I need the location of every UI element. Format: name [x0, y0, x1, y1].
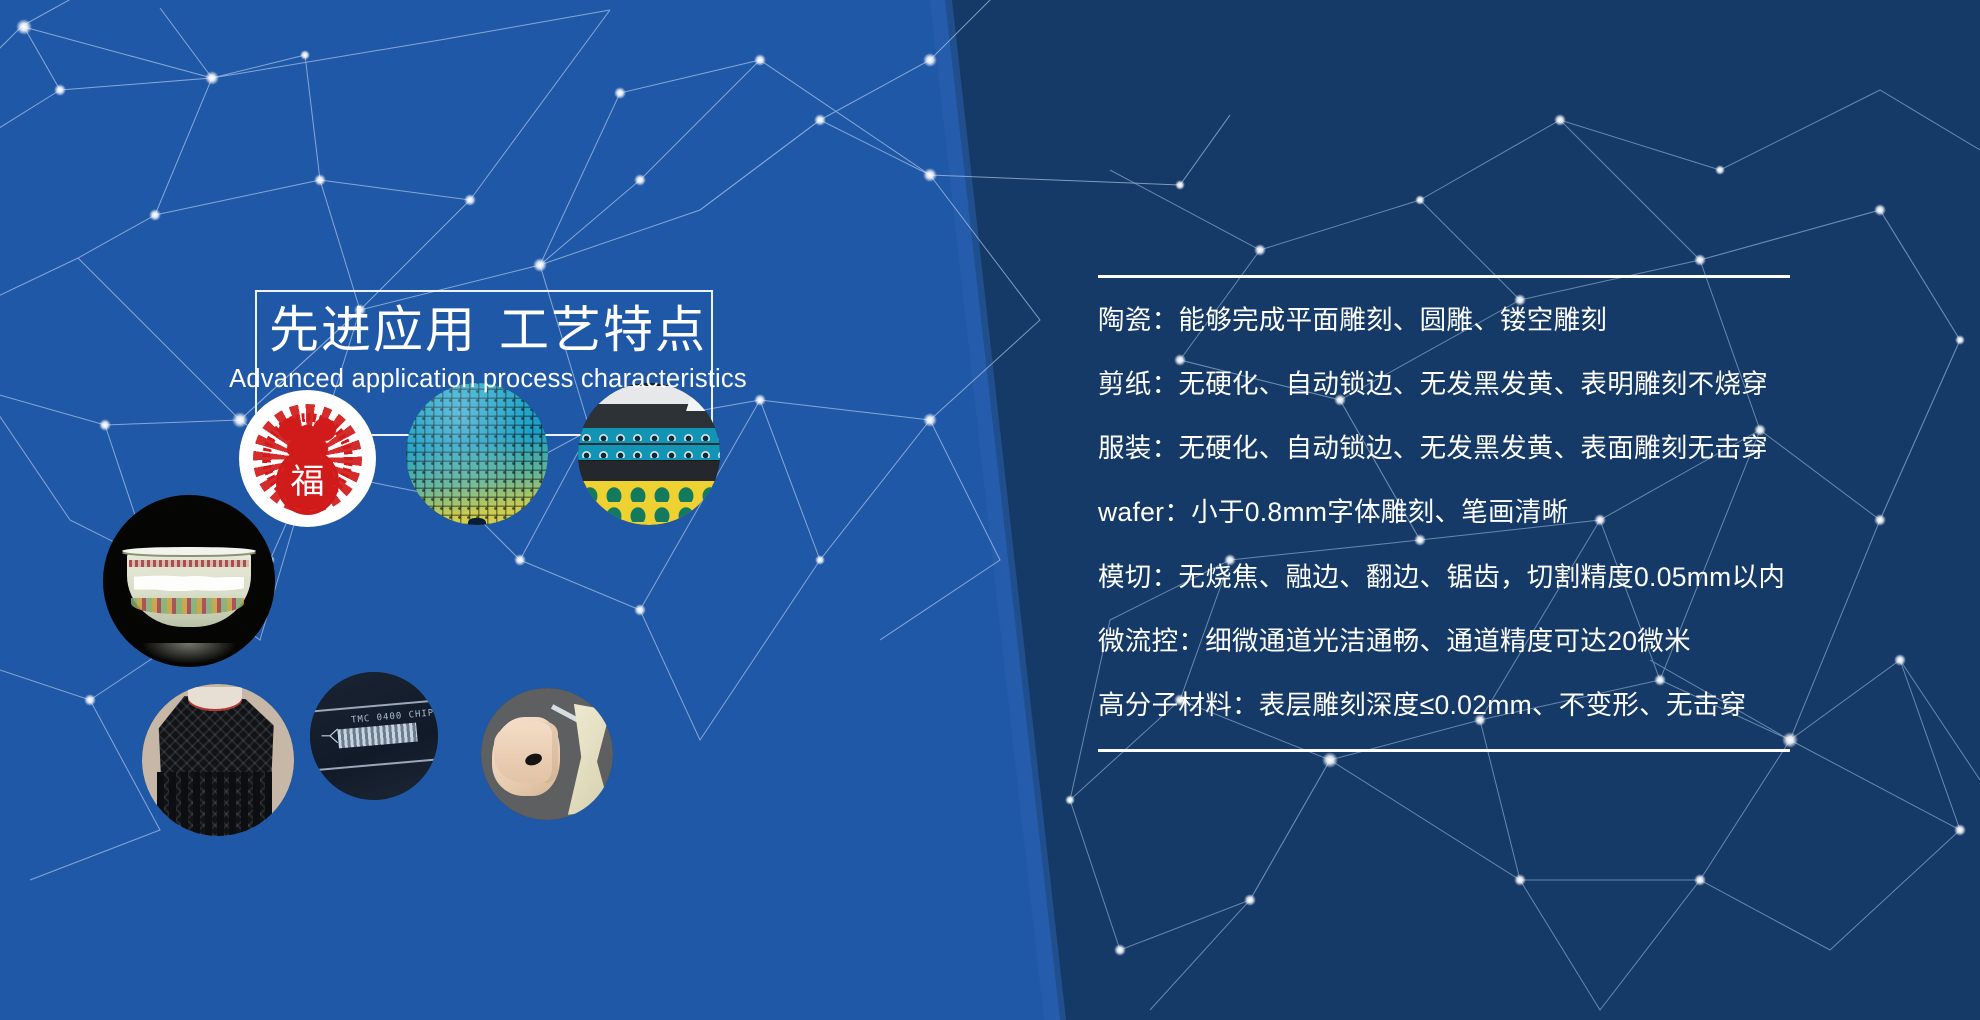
wafer-flat-notch [468, 518, 485, 525]
specs-panel: 陶瓷：能够完成平面雕刻、圆雕、镂空雕刻 剪纸：无硬化、自动锁边、无发黑发黄、表明… [1098, 275, 1798, 752]
gallery-item-red-papercut[interactable]: 福 [239, 390, 376, 527]
papercut-image: 福 [239, 390, 376, 527]
film-dark-band-lower [578, 461, 720, 481]
specs-list: 陶瓷：能够完成平面雕刻、圆雕、镂空雕刻 剪纸：无硬化、自动锁边、无发黑发黄、表明… [1098, 278, 1798, 737]
bowl-rim [122, 547, 256, 556]
spec-item-apparel: 服装：无硬化、自动锁边、无发黑发黄、表面雕刻无击穿 [1098, 416, 1798, 480]
bowl-reflection [141, 643, 237, 664]
black-textile-image [142, 684, 294, 836]
specs-bottom-rule [1098, 749, 1790, 752]
film-layers-image [578, 383, 720, 525]
spec-item-papercut: 剪纸：无硬化、自动锁边、无发黑发黄、表明雕刻不烧穿 [1098, 352, 1798, 416]
title-chinese-part1: 先进应用 [269, 302, 477, 358]
wafer-highlight [406, 383, 548, 525]
chip-scribe-line-bottom [310, 758, 438, 772]
film-cyan-holes-2 [578, 447, 720, 458]
gloved-fingers [494, 722, 557, 783]
title-chinese-part2: 工艺特点 [499, 302, 707, 358]
title-chinese: 先进应用工艺特点 [228, 300, 748, 361]
spec-item-wafer: wafer：小于0.8mm字体雕刻、笔画清晰 [1098, 480, 1798, 544]
page-title: 先进应用工艺特点 Advanced application process ch… [228, 300, 748, 394]
poster-root: 先进应用工艺特点 Advanced application process ch… [0, 0, 1980, 1020]
spec-item-diecut: 模切：无烧焦、融边、翻边、锯齿，切割精度0.05mm以内 [1098, 545, 1798, 609]
spec-item-ceramic: 陶瓷：能够完成平面雕刻、圆雕、镂空雕刻 [1098, 278, 1798, 352]
gallery-item-silicon-wafer[interactable] [406, 383, 548, 525]
chip-engraved-bar [337, 722, 418, 748]
gallery-item-black-textile[interactable] [142, 684, 294, 836]
wafer-chip-image: TMC 0400 CHIP [310, 672, 438, 800]
bowl-upper-band [129, 560, 249, 567]
silicon-wafer-image [406, 383, 548, 525]
gallery-item-wafer-chip[interactable]: TMC 0400 CHIP [310, 672, 438, 800]
papercut-fu-character: 福 [280, 453, 335, 511]
chip-label: TMC 0400 CHIP [351, 708, 435, 725]
gallery-item-polymer-film[interactable] [481, 688, 613, 820]
gloved-hand-film-image [481, 688, 613, 820]
gallery-item-film-layers[interactable] [578, 383, 720, 525]
spec-item-microfluidics: 微流控：细微通道光洁通畅、通道精度可达20微米 [1098, 609, 1798, 673]
title-english: Advanced application process characteris… [228, 365, 748, 394]
spec-item-polymer: 高分子材料：表层雕刻深度≤0.02mm、不变形、无击穿 [1098, 673, 1798, 737]
bowl-lower-band [131, 598, 245, 613]
bowl-engraved-glyphs [134, 571, 244, 595]
film-yellow-caps [578, 482, 720, 523]
garment-fringe-cut [157, 772, 276, 836]
film-cyan-holes-1 [578, 430, 720, 441]
